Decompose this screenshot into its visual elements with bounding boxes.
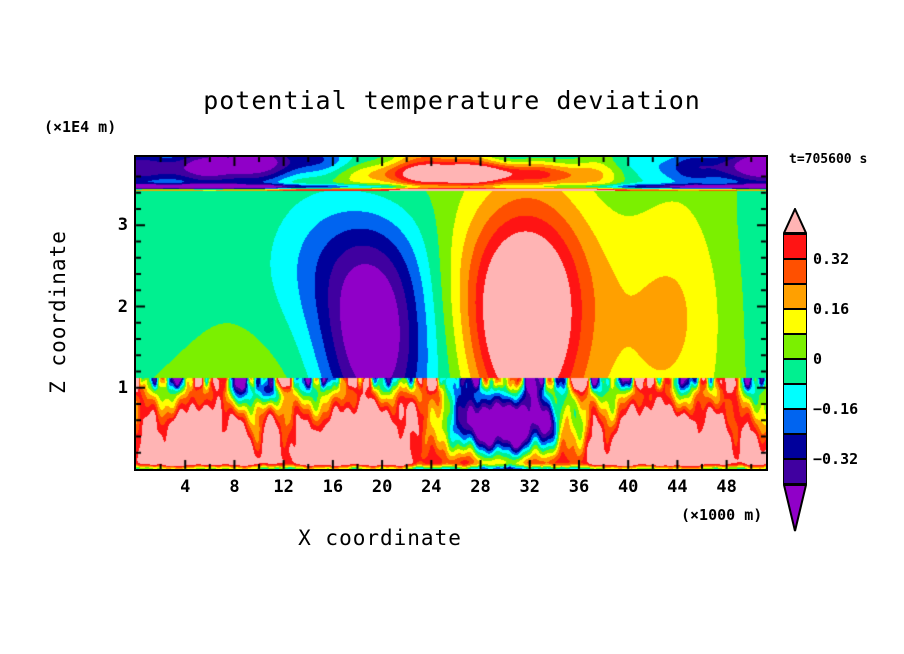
colorbar-tick-label: 0 xyxy=(813,350,822,368)
time-stamp-label: t=705600 s xyxy=(789,152,867,167)
x-tick-label: 16 xyxy=(323,477,343,497)
colorbar-tick-label: −0.16 xyxy=(813,400,858,418)
x-tick-label: 44 xyxy=(667,477,687,497)
colorbar-band xyxy=(783,409,807,434)
y-tick-label: 2 xyxy=(104,297,128,317)
colorbar: 0.320.160−0.16−0.32 xyxy=(783,208,807,508)
x-tick-label: 20 xyxy=(372,477,392,497)
x-axis-title: X coordinate xyxy=(0,526,760,550)
colorbar-tick-label: −0.32 xyxy=(813,450,858,468)
colorbar-band xyxy=(783,284,807,309)
colorbar-band xyxy=(783,334,807,359)
y-tick-label: 3 xyxy=(104,215,128,235)
y-axis-title: Z coordinate xyxy=(46,212,70,412)
colorbar-band xyxy=(783,434,807,459)
chart-title: potential temperature deviation xyxy=(0,86,904,115)
x-tick-label: 36 xyxy=(569,477,589,497)
x-tick-label: 32 xyxy=(520,477,540,497)
colorbar-under-arrow xyxy=(783,484,807,532)
colorbar-band xyxy=(783,384,807,409)
contour-field-canvas xyxy=(136,157,766,469)
x-tick-label: 8 xyxy=(229,477,239,497)
colorbar-tick-label: 0.32 xyxy=(813,250,849,268)
y-axis-unit-label: (×1E4 m) xyxy=(44,118,116,136)
x-tick-label: 12 xyxy=(273,477,293,497)
colorbar-over-arrow xyxy=(783,208,807,234)
x-tick-label: 48 xyxy=(716,477,736,497)
colorbar-band xyxy=(783,259,807,284)
contour-plot-area xyxy=(134,155,768,471)
colorbar-tick-label: 0.16 xyxy=(813,300,849,318)
colorbar-band xyxy=(783,359,807,384)
x-tick-label: 28 xyxy=(470,477,490,497)
y-tick-label: 1 xyxy=(104,378,128,398)
x-tick-label: 24 xyxy=(421,477,441,497)
x-tick-label: 4 xyxy=(180,477,190,497)
x-axis-unit-label: (×1000 m) xyxy=(681,506,762,524)
colorbar-band xyxy=(783,459,807,484)
colorbar-band xyxy=(783,234,807,259)
x-tick-label: 40 xyxy=(618,477,638,497)
colorbar-band xyxy=(783,309,807,334)
